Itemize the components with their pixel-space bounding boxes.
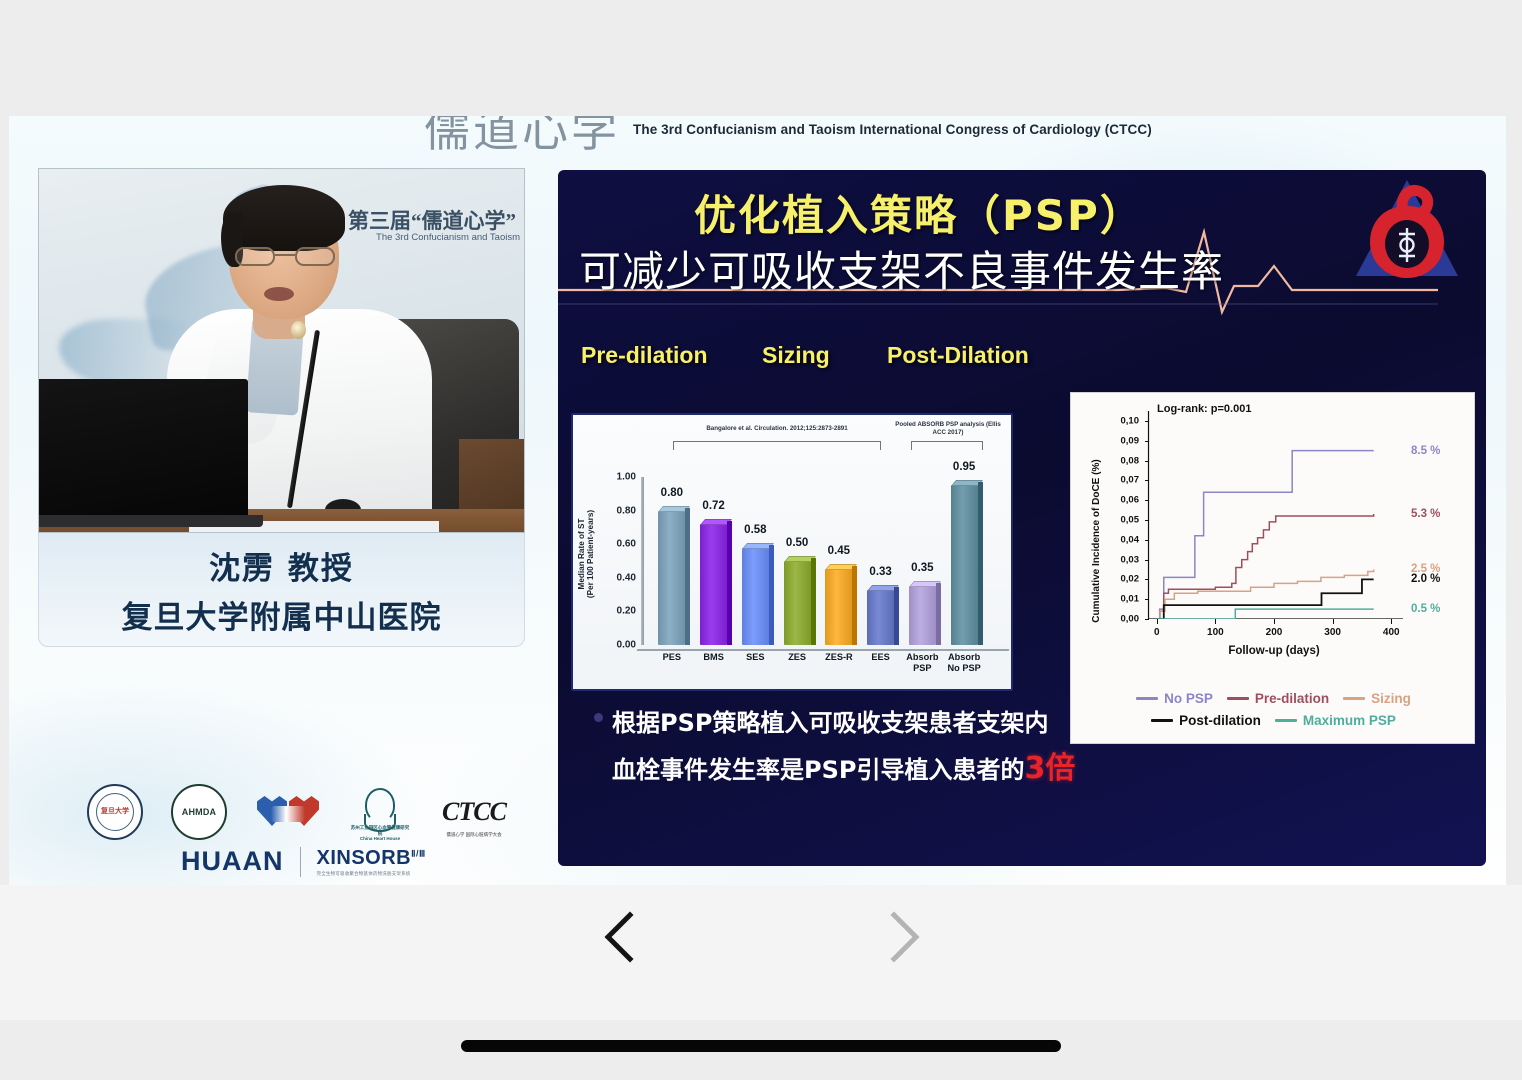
page-header: 儒道心学 The 3rd Confucianism and Taoism Int… [9, 116, 1506, 174]
ahmda-logo: AHMDA [171, 784, 227, 840]
bar-category-label: BMS [703, 652, 723, 663]
slide-bottom-line2: 血栓事件发生率是PSP引导植入患者的3倍 [574, 744, 1074, 794]
km-curves [1145, 411, 1403, 619]
km-end-label: 5.3 % [1411, 508, 1440, 520]
slide-bottom-line1: 根据PSP策略植入可吸收支架患者支架内 [574, 704, 1074, 744]
home-indicator[interactable] [461, 1040, 1061, 1052]
bar-side-face [769, 545, 774, 645]
km-ytick: 0,04 [1121, 534, 1140, 545]
bullet-icon [594, 713, 603, 722]
km-series-pre-dilation [1157, 514, 1374, 619]
km-xtick-mark [1391, 619, 1392, 624]
xinsorb-superscript: Ⅱ/Ⅲ [411, 848, 426, 858]
chh-cn-label: 苏州工业园区心血管健康研究院 [349, 825, 411, 836]
bar-side-face [852, 566, 857, 645]
bar-chart-ytick: 0.60 [617, 539, 636, 550]
bar-side-face [936, 583, 941, 645]
bar-chart-bar: 0.33EES [867, 590, 894, 645]
sponsor-logos: 复旦大学 AHMDA 苏州工业园区心血管健康研究院 China Heart Ho… [69, 784, 509, 885]
km-legend-item-sizing: Sizing [1343, 691, 1411, 706]
bar-value-label: 0.95 [953, 461, 975, 473]
bracket-left [673, 441, 881, 450]
chevron-right-icon[interactable] [872, 907, 932, 967]
bar-value-label: 0.35 [911, 562, 933, 574]
km-ytick-mark [1145, 560, 1149, 561]
bar-chart-ylabel: Median Rate of ST(Per 100 Patient-years) [577, 479, 595, 629]
china-heart-house-logo: 苏州工业园区心血管健康研究院 China Heart House [349, 784, 411, 840]
bar-chart-bar: 0.50ZES [784, 561, 811, 645]
km-ytick: 0,06 [1121, 495, 1140, 506]
bar-side-face [811, 558, 816, 645]
university-seal-label: 复旦大学 [101, 808, 129, 816]
bar-value-label: 0.80 [661, 487, 683, 499]
km-xtick-mark [1274, 619, 1275, 624]
km-legend-swatch [1227, 697, 1249, 700]
km-legend-item-pre-dilation: Pre-dilation [1227, 691, 1329, 706]
xinsorb-sublabel: 完全生物可吸收聚合物基体药物洗脱支架系统 [317, 871, 426, 877]
bar-side-face [894, 587, 899, 645]
km-series-post-dilation [1157, 579, 1374, 619]
slide-bottom-highlight: 3倍 [1024, 751, 1075, 786]
km-legend-label: Post-dilation [1179, 713, 1261, 728]
speaker-nameplate: 沈雳 教授 复旦大学附属中山医院 [38, 533, 525, 647]
laptop [38, 379, 248, 519]
km-ytick-mark [1145, 540, 1149, 541]
slide-navigation [0, 885, 1522, 1020]
km-legend-row-1: No PSP Pre-dilation Sizing [1077, 691, 1470, 706]
bar-chart-ytick: 1.00 [617, 472, 636, 483]
app-root: 儒道心学 The 3rd Confucianism and Taoism Int… [0, 0, 1522, 1080]
km-ytick-mark [1145, 599, 1149, 600]
university-seal-logo: 复旦大学 [87, 784, 143, 840]
km-xtick: 100 [1207, 627, 1224, 638]
km-legend-label: Maximum PSP [1303, 713, 1396, 728]
psp-step-pre-dilation: Pre-dilation [581, 342, 708, 369]
km-ytick-mark [1145, 441, 1149, 442]
bar-side-face [685, 508, 690, 645]
km-ytick-mark [1145, 421, 1149, 422]
bar-chart-bar: 0.35AbsorbPSP [909, 586, 936, 645]
huaan-logo: HUAAN [181, 846, 284, 877]
logo-divider [300, 847, 301, 877]
km-end-label: 8.5 % [1411, 445, 1440, 457]
bar-value-label: 0.72 [702, 500, 724, 512]
ctcc-sublabel: 儒道心学 国际心脏病学大会 [439, 832, 509, 838]
bar-category-label: AbsorbPSP [906, 652, 938, 673]
km-chart-plot: Follow-up (days) 0,000,010,020,030,040,0… [1145, 411, 1403, 619]
km-xtick: 300 [1324, 627, 1341, 638]
km-xtick-mark [1333, 619, 1334, 624]
bar-chart-bar: 0.80PES [658, 511, 685, 645]
bar-chart-bar: 0.72BMS [700, 524, 727, 645]
chh-en-label: China Heart House [349, 836, 411, 842]
bracket-right [911, 441, 983, 450]
km-ytick: 0,03 [1121, 554, 1140, 565]
slide-title-white: 可减少可吸收支架不良事件发生率 [579, 238, 1224, 299]
bar-side-face [978, 482, 983, 645]
bar-chart-plot: Median Rate of ST(Per 100 Patient-years)… [641, 477, 1003, 645]
km-ylabel: Cumulative Incidence of DoCE (%) [1091, 421, 1102, 661]
km-legend-item-maximum-psp: Maximum PSP [1275, 713, 1396, 728]
km-ytick: 0,01 [1121, 594, 1140, 605]
psp-steps: Pre-dilation Sizing Post-Dilation [558, 342, 1486, 382]
logo-row-secondary: HUAAN XINSORBⅡ/Ⅲ 完全生物可吸收聚合物基体药物洗脱支架系统 [181, 846, 426, 877]
km-xtick-mark [1157, 619, 1158, 624]
km-ytick: 0,05 [1121, 514, 1140, 525]
bar-chart-citation-left: Bangalore et al. Circulation. 2012;125:2… [671, 425, 883, 433]
km-xtick-mark [1215, 619, 1216, 624]
km-ytick: 0,10 [1121, 415, 1140, 426]
bar-chart-baseline [637, 649, 1010, 651]
bar-category-label: ZES-R [825, 652, 853, 663]
km-legend: No PSP Pre-dilation Sizing [1077, 691, 1470, 735]
bar-category-label: ZES [788, 652, 806, 663]
bar-value-label: 0.45 [828, 545, 850, 557]
km-ytick: 0,00 [1121, 614, 1140, 625]
km-xtick: 400 [1383, 627, 1400, 638]
bar-chart-citation-right: Pooled ABSORB PSP analysis (Ellis ACC 20… [895, 421, 1001, 437]
bar-chart-ytick: 0.40 [617, 572, 636, 583]
km-ytick: 0,02 [1121, 574, 1140, 585]
speaker-panel: 第三届“儒道心学” The 3rd Confucianism and Taois… [38, 168, 529, 648]
glasses-icon [235, 247, 335, 267]
km-ytick: 0,08 [1121, 455, 1140, 466]
km-ytick-mark [1145, 480, 1149, 481]
bar-chart-bar: 0.45ZES-R [825, 569, 852, 645]
bar-chart-ytick: 0.80 [617, 505, 636, 516]
bar-chart-bar: 0.58SES [742, 548, 769, 645]
bar-value-label: 0.50 [786, 537, 808, 549]
content-card: 儒道心学 The 3rd Confucianism and Taoism Int… [9, 116, 1506, 885]
slide-bottom-line2-text: 血栓事件发生率是PSP引导植入患者的 [612, 756, 1024, 784]
microphone-head [291, 321, 306, 339]
km-ytick-mark [1145, 461, 1149, 462]
bar-chart-ytick: 0.20 [617, 606, 636, 617]
km-legend-swatch [1343, 697, 1365, 700]
bar-chart-yaxis [641, 477, 644, 645]
km-legend-item-post-dilation: Post-dilation [1151, 713, 1261, 728]
bar-category-label: SES [746, 652, 764, 663]
bar-value-label: 0.58 [744, 524, 766, 536]
presentation-slide[interactable]: 优化植入策略（PSP） 可减少可吸收支架不良事件发生率 Pre-dilation… [558, 170, 1486, 866]
ctcc-heart-logo-icon [1352, 176, 1462, 294]
km-legend-swatch [1151, 719, 1173, 722]
xinsorb-logo: XINSORBⅡ/Ⅲ 完全生物可吸收聚合物基体药物洗脱支架系统 [317, 847, 426, 877]
bar-value-label: 0.33 [869, 566, 891, 578]
bar-chart-panel: Bangalore et al. Circulation. 2012;125:2… [571, 413, 1013, 691]
bar-chart-bars: 0.80PES0.72BMS0.58SES0.50ZES0.45ZES-R0.3… [651, 477, 1003, 645]
km-legend-label: Pre-dilation [1255, 691, 1329, 706]
speaker-organization: 复旦大学附属中山医院 [122, 592, 442, 637]
km-legend-label: No PSP [1164, 691, 1213, 706]
km-legend-row-2: Post-dilation Maximum PSP [1077, 713, 1470, 728]
km-ytick: 0,07 [1121, 475, 1140, 486]
speaker-name: 沈雳 教授 [209, 543, 354, 588]
km-legend-item-no-psp: No PSP [1136, 691, 1213, 706]
photo-banner-en: The 3rd Confucianism and Taoism [376, 232, 520, 243]
hearts-handshake-logo [255, 784, 321, 840]
km-xlabel: Follow-up (days) [1145, 645, 1403, 657]
mouth [264, 287, 294, 301]
km-chart-panel: Log-rank: p=0.001 Cumulative Incidence o… [1070, 392, 1475, 744]
bar-category-label: EES [871, 652, 889, 663]
ctcc-label: CTCC [442, 797, 506, 827]
bar-side-face [727, 521, 732, 645]
slide-title-band: 优化植入策略（PSP） 可减少可吸收支架不良事件发生率 [558, 170, 1486, 312]
psp-step-sizing: Sizing [762, 342, 830, 369]
km-legend-swatch [1275, 719, 1297, 722]
slide-title-yellow: 优化植入策略（PSP） [694, 182, 1144, 243]
km-ytick-mark [1145, 500, 1149, 501]
km-end-label: 2.0 % [1411, 573, 1440, 585]
ahmda-label: AHMDA [182, 807, 217, 817]
km-legend-label: Sizing [1371, 691, 1411, 706]
header-cn-title: 儒道心学 [424, 116, 620, 160]
psp-step-post-dilation: Post-Dilation [887, 342, 1029, 369]
logo-row-primary: 复旦大学 AHMDA 苏州工业园区心血管健康研究院 China Heart Ho… [87, 784, 509, 840]
chevron-left-icon[interactable] [592, 907, 652, 967]
speaker-photo: 第三届“儒道心学” The 3rd Confucianism and Taois… [38, 168, 525, 533]
km-series-maximum-psp [1157, 609, 1374, 619]
bar-category-label: AbsorbNo PSP [948, 652, 981, 673]
xinsorb-label: XINSORB [317, 847, 412, 869]
header-en-title: The 3rd Confucianism and Taoism Internat… [633, 122, 1152, 137]
top-status-strip [0, 0, 1522, 116]
km-axis-lines [1149, 411, 1403, 619]
km-ytick-mark [1145, 520, 1149, 521]
km-ytick-mark [1145, 619, 1149, 620]
km-legend-swatch [1136, 697, 1158, 700]
km-ytick: 0,09 [1121, 435, 1140, 446]
km-end-label: 0.5 % [1411, 603, 1440, 615]
km-ytick-mark [1145, 579, 1149, 580]
bar-category-label: PES [663, 652, 681, 663]
laptop-base [38, 515, 263, 527]
slide-bottom-text: 根据PSP策略植入可吸收支架患者支架内 血栓事件发生率是PSP引导植入患者的3倍 [574, 704, 1074, 814]
bar-chart-bar: 0.95AbsorbNo PSP [951, 485, 978, 645]
photo-banner-cn: 第三届“儒道心学” [348, 205, 516, 235]
ctcc-logo: CTCC 儒道心学 国际心脏病学大会 [439, 784, 509, 840]
km-xtick: 200 [1266, 627, 1283, 638]
bar-chart-ytick: 0.00 [617, 640, 636, 651]
km-xtick: 0 [1154, 627, 1160, 638]
